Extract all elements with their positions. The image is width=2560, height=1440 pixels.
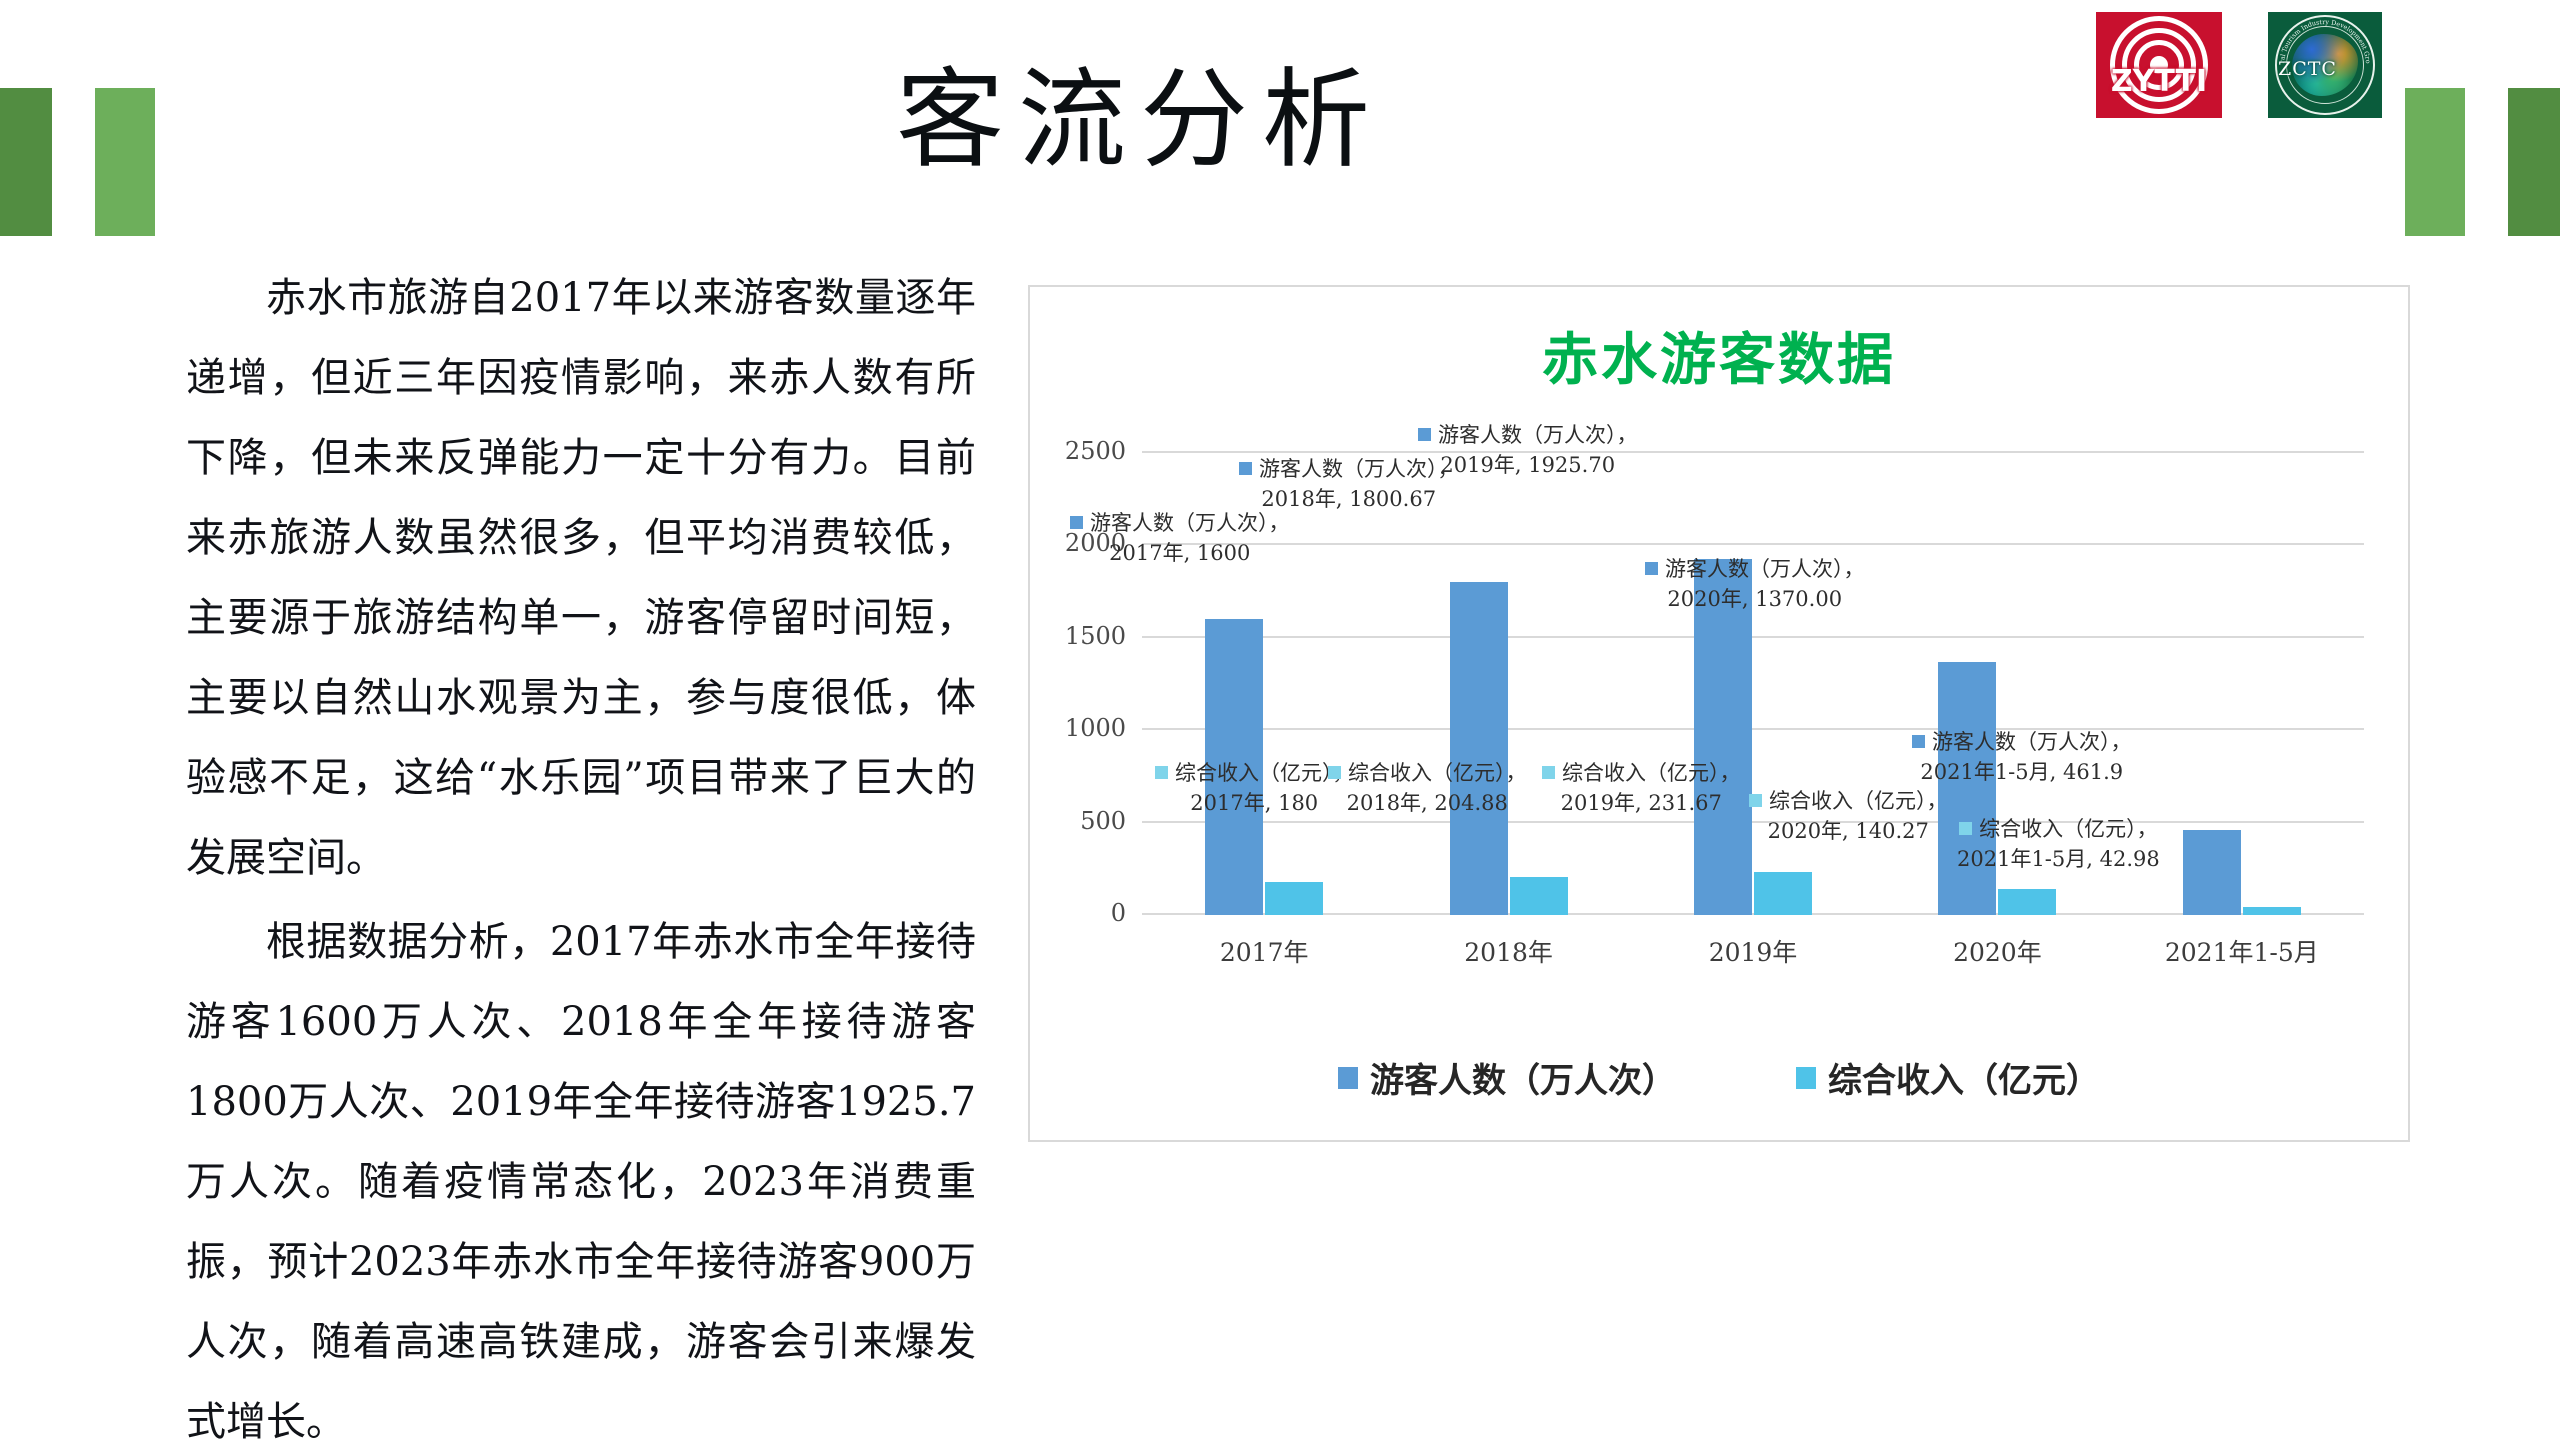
decor-bar-left-light xyxy=(95,88,155,236)
chart-data-label: 游客人数（万人次），2020年, 1370.00 xyxy=(1645,555,1865,615)
zytti-logo: ZYTTI xyxy=(2096,12,2222,118)
body-text-block: 赤水市旅游自2017年以来游客数量逐年递增，但近三年因疫情影响，来赤人数有所下降… xyxy=(186,258,976,1440)
chart-data-label: 综合收入（亿元），2017年, 180 xyxy=(1155,759,1354,819)
chart-panel: 赤水游客数据 05001000150020002500游客人数（万人次），201… xyxy=(1028,285,2410,1142)
chart-x-tick-label: 2018年 xyxy=(1464,933,1553,969)
page-title: 客流分析 xyxy=(880,55,1400,187)
bar-visitors[interactable] xyxy=(1450,582,1508,915)
svg-text:Zunyi Cultural Tourism Industr: Zunyi Cultural Tourism Industry Developm… xyxy=(2268,12,2372,64)
chart-title: 赤水游客数据 xyxy=(1030,315,2408,396)
legend-swatch-icon xyxy=(1338,1067,1358,1089)
chart-data-label: 游客人数（万人次），2017年, 1600 xyxy=(1070,509,1290,569)
chart-x-tick-label: 2019年 xyxy=(1709,933,1798,969)
chart-x-tick-label: 2021年1-5月 xyxy=(2165,933,2319,969)
chart-data-label: 综合收入（亿元），2021年1-5月, 42.98 xyxy=(1957,815,2160,875)
chart-plot-area: 05001000150020002500游客人数（万人次），2017年, 160… xyxy=(1142,453,2364,915)
bar-visitors[interactable] xyxy=(2183,830,2241,915)
bar-revenue[interactable] xyxy=(1510,877,1568,915)
chart-x-axis: 2017年2018年2019年2020年2021年1-5月 xyxy=(1142,933,2364,973)
bar-revenue[interactable] xyxy=(1265,882,1323,915)
chart-y-tick-label: 0 xyxy=(1111,899,1126,927)
chart-x-tick-label: 2017年 xyxy=(1220,933,1309,969)
legend-swatch-icon xyxy=(1796,1067,1816,1089)
chart-y-tick-label: 1500 xyxy=(1065,622,1126,650)
decor-bar-left-dark xyxy=(0,88,52,236)
paragraph-1: 赤水市旅游自2017年以来游客数量逐年递增，但近三年因疫情影响，来赤人数有所下降… xyxy=(186,258,976,898)
zctc-logo: Zunyi Cultural Tourism Industry Developm… xyxy=(2268,12,2382,118)
chart-data-label: 综合收入（亿元），2018年, 204.88 xyxy=(1328,759,1527,819)
chart-data-label: 游客人数（万人次），2021年1-5月, 461.9 xyxy=(1912,728,2132,788)
chart-legend: 游客人数（万人次）综合收入（亿元） xyxy=(1030,1053,2408,1102)
zytti-wordmark: ZYTTI xyxy=(2096,64,2222,99)
zctc-wordmark: ZCTC xyxy=(2278,58,2337,80)
bar-revenue[interactable] xyxy=(2243,907,2301,915)
chart-bar-group xyxy=(1450,453,1568,915)
chart-legend-item[interactable]: 游客人数（万人次） xyxy=(1338,1053,1676,1102)
chart-data-label: 综合收入（亿元），2020年, 140.27 xyxy=(1749,787,1948,847)
chart-legend-label: 游客人数（万人次） xyxy=(1370,1053,1676,1102)
paragraph-2: 根据数据分析，2017年赤水市全年接待游客1600万人次、2018年全年接待游客… xyxy=(186,902,976,1440)
chart-legend-item[interactable]: 综合收入（亿元） xyxy=(1796,1053,2100,1102)
decor-bar-right-dark xyxy=(2508,88,2560,236)
chart-y-tick-label: 500 xyxy=(1080,807,1126,835)
chart-data-label: 游客人数（万人次），2019年, 1925.70 xyxy=(1418,421,1638,481)
bar-revenue[interactable] xyxy=(1754,872,1812,915)
chart-data-label: 综合收入（亿元），2019年, 231.67 xyxy=(1542,759,1741,819)
chart-bar-group xyxy=(2183,453,2301,915)
chart-y-tick-label: 2500 xyxy=(1065,437,1126,465)
bar-revenue[interactable] xyxy=(1998,889,2056,915)
slide-canvas: 客流分析 ZYTTI Zunyi Cultural Tourism Indust… xyxy=(0,0,2560,1440)
chart-y-tick-label: 1000 xyxy=(1065,714,1126,742)
chart-legend-label: 综合收入（亿元） xyxy=(1828,1053,2100,1102)
decor-bar-right-light xyxy=(2405,88,2465,236)
chart-x-tick-label: 2020年 xyxy=(1953,933,2042,969)
